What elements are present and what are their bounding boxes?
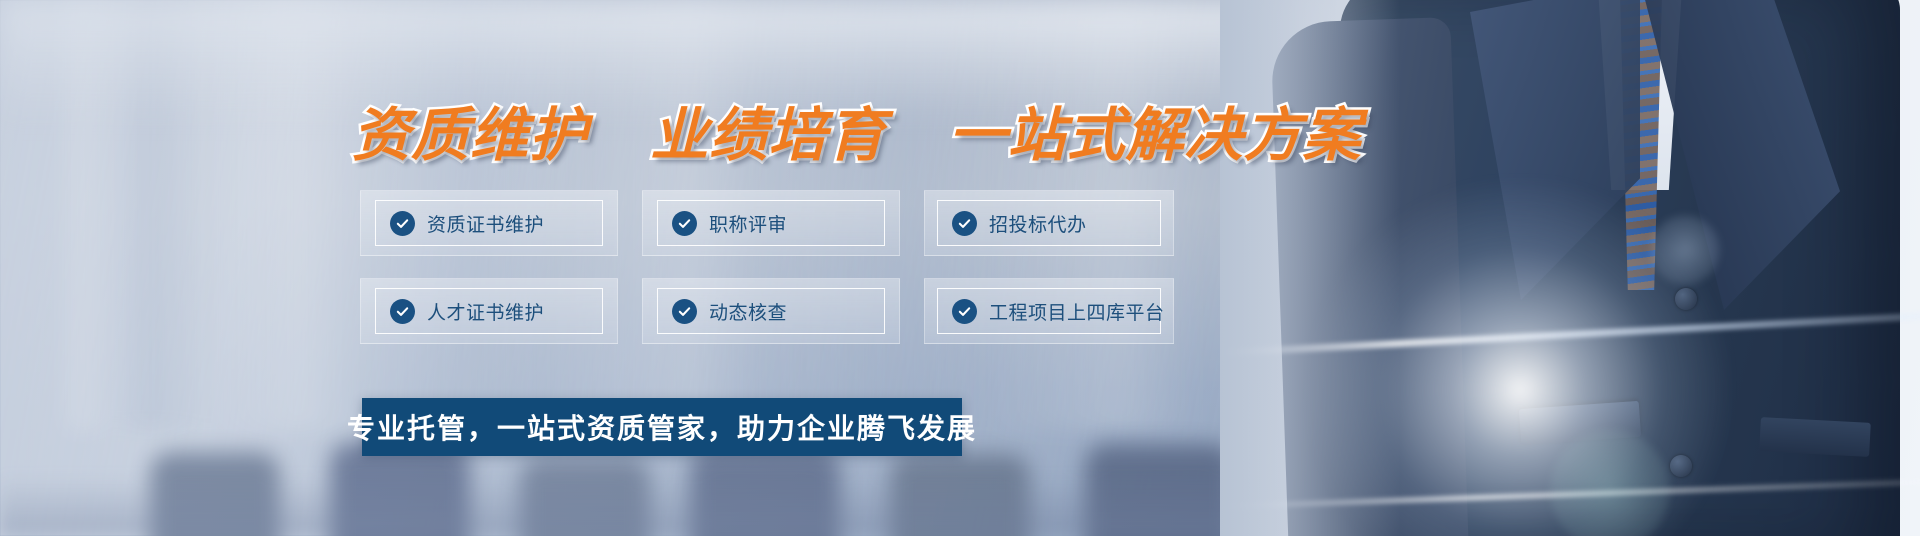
check-circle-icon xyxy=(390,299,415,324)
headline-part-2: 业绩培育 xyxy=(650,103,886,168)
feature-card-label: 职称评审 xyxy=(709,210,787,237)
feature-card-body: 工程项目上四库平台 xyxy=(937,288,1161,334)
feature-card-talent-certificate[interactable]: 人才证书维护 xyxy=(360,278,618,344)
feature-card-body: 人才证书维护 xyxy=(375,288,603,334)
check-circle-icon xyxy=(952,299,977,324)
headline-part-1: 资质维护 xyxy=(352,103,588,168)
feature-card-title-review[interactable]: 职称评审 xyxy=(642,190,900,256)
feature-card-grid: 资质证书维护 职称评审 招投标代办 xyxy=(360,190,1174,348)
feature-card-label: 动态核查 xyxy=(709,298,787,325)
feature-card-label: 人才证书维护 xyxy=(427,298,544,325)
feature-card-four-database-platform[interactable]: 工程项目上四库平台 xyxy=(924,278,1174,344)
feature-card-label: 资质证书维护 xyxy=(427,210,544,237)
hero-banner: 资质维护 业绩培育 一站式解决方案 资质证书维护 xyxy=(0,0,1920,536)
feature-card-bidding-agency[interactable]: 招投标代办 xyxy=(924,190,1174,256)
banner-headline: 资质维护 业绩培育 一站式解决方案 xyxy=(352,88,1362,172)
feature-card-body: 资质证书维护 xyxy=(375,200,603,246)
feature-card-label: 工程项目上四库平台 xyxy=(989,298,1165,325)
feature-card-dynamic-inspection[interactable]: 动态核查 xyxy=(642,278,900,344)
tagline-text: 专业托管，一站式资质管家，助力企业腾飞发展 xyxy=(347,407,977,447)
check-circle-icon xyxy=(672,211,697,236)
check-circle-icon xyxy=(952,211,977,236)
feature-card-label: 招投标代办 xyxy=(989,210,1087,237)
tagline-bar: 专业托管，一站式资质管家，助力企业腾飞发展 xyxy=(362,398,962,456)
feature-card-body: 动态核查 xyxy=(657,288,885,334)
check-circle-icon xyxy=(672,299,697,324)
headline-part-3: 一站式解决方案 xyxy=(949,103,1362,168)
feature-card-body: 职称评审 xyxy=(657,200,885,246)
feature-card-qualification-certificate[interactable]: 资质证书维护 xyxy=(360,190,618,256)
feature-card-body: 招投标代办 xyxy=(937,200,1161,246)
check-circle-icon xyxy=(390,211,415,236)
banner-content: 资质维护 业绩培育 一站式解决方案 资质证书维护 xyxy=(0,0,1920,536)
